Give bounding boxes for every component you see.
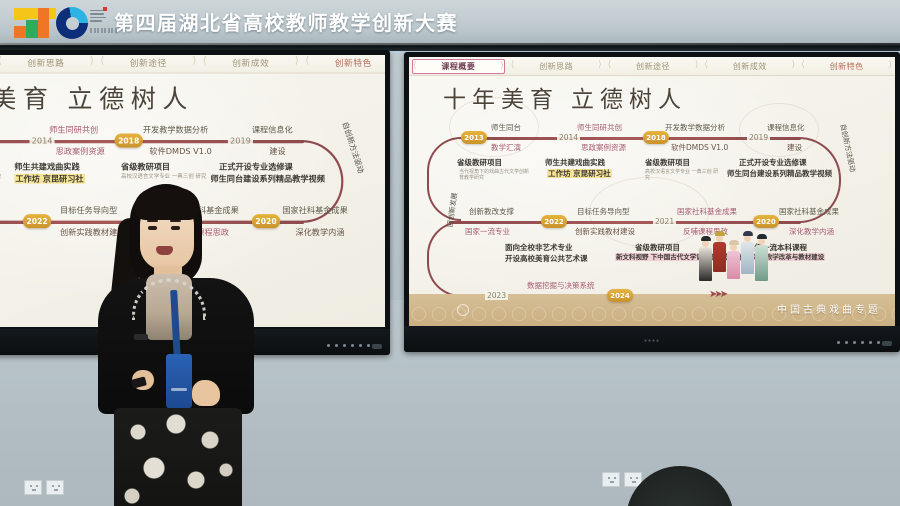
slide-headline-left: 十年美育立德树人 xyxy=(0,78,194,115)
presenter-right-hand xyxy=(192,380,220,406)
projection-screen-right[interactable]: ⟨ 课程概要 ⟩ ⟨ 创新思路 ⟩ ⟨ 创新途径 ⟩ xyxy=(404,52,900,352)
tab-kechenggaiyao[interactable]: ⟨ 课程概要 ⟩ xyxy=(412,59,505,74)
timeline-year-2019: 2019 xyxy=(747,133,770,142)
screen-right-bezel: ●●●● xyxy=(404,326,900,352)
timeline-line-row2 xyxy=(449,221,801,224)
presenter-mic-clip xyxy=(134,334,148,340)
timeline-detail-2021: 省级教研项目 xyxy=(635,243,680,252)
curve-caption-right: 自创新方法驱动 xyxy=(838,123,858,173)
timeline-label-above-2023: 数据挖掘与决策系统 xyxy=(527,281,595,290)
slide-footer-band: 中国古典戏曲专题 xyxy=(409,294,895,328)
bracket-left-icon: ⟨ xyxy=(305,56,309,66)
timeline-year-2023: 2023 xyxy=(485,291,508,300)
seal-icon xyxy=(457,304,469,316)
logo-square-yellow-top xyxy=(14,8,26,20)
bracket-right-icon: ⟩ xyxy=(500,61,504,70)
logo-wordmark-lines xyxy=(90,10,108,24)
opera-figures-illustration xyxy=(699,235,768,281)
bracket-left-icon: ⟨ xyxy=(0,56,2,66)
tab-chuangxintese[interactable]: ⟨ 创新特色 ⟩ xyxy=(801,59,892,74)
timeline-label-below-2014: 思政案例资源 xyxy=(581,143,626,152)
slide-left-tabbar: ⟨ 课程概要 ⟩ ⟨ 创新思路 ⟩ ⟨ 创新途径 ⟩ xyxy=(0,55,385,74)
presenter-eye xyxy=(148,226,157,230)
screen-right-buttons[interactable] xyxy=(837,341,880,344)
timeline-detail-2013: 省级教研项目 xyxy=(457,158,502,167)
timeline-year-2014: 2014 xyxy=(30,136,55,146)
timeline-node-2020: 2020 xyxy=(753,215,779,228)
ir-receiver-icon xyxy=(882,341,892,346)
presenter-skirt xyxy=(114,408,242,506)
bracket-right-icon: ⟩ xyxy=(695,60,699,69)
timeline-year-2021: 2021 xyxy=(653,217,676,226)
timeline-curve-left-bottom xyxy=(427,221,461,297)
timeline-node-2022: 2022 xyxy=(23,214,51,228)
timeline-label-below-2020: 深化教学内涵 xyxy=(789,227,834,236)
slide-footer-caption: 中国古典戏曲专题 xyxy=(777,301,881,316)
timeline-node-2018: 2018 xyxy=(115,133,143,147)
timeline-label-above-2019: 课程信息化 xyxy=(767,123,805,132)
timeline-label-below-2022b: 国家一流专业 xyxy=(465,227,510,236)
logo-bar-orange xyxy=(38,8,49,38)
bracket-right-icon: ⟩ xyxy=(192,56,196,66)
opera-figure xyxy=(713,235,726,272)
opera-figure xyxy=(741,235,754,274)
timeline-detail-2014: 师生共建戏曲实践 xyxy=(545,158,605,167)
timeline-label-above-2018: 开发教学数据分析 xyxy=(665,123,725,132)
tab-chuangxintujing-left[interactable]: ⟨ 创新途径 ⟩ xyxy=(100,55,196,71)
timeline-subdetail-2013: 当代视角下的戏曲古代文学创新育教学研究 xyxy=(459,169,531,181)
header-divider xyxy=(0,43,900,45)
wall-socket xyxy=(46,480,64,495)
logo-subtitle-dots xyxy=(90,28,117,33)
broadcast-header-banner: 第四届湖北省高校教师教学创新大赛 xyxy=(0,0,900,43)
timeline-label-2022-textbook: 创新实践教材建设 xyxy=(575,227,635,236)
timeline-detail-2019: 正式开设专业选修课 xyxy=(739,158,807,167)
timeline-arrow-icon: ➤➤➤ xyxy=(709,289,725,300)
timeline-label-above-2013: 师生同台 xyxy=(491,123,521,132)
wall-socket xyxy=(602,472,620,487)
logo-bar-green xyxy=(26,20,38,38)
timeline-year-2014: 2014 xyxy=(557,133,580,142)
presenter xyxy=(84,182,270,506)
timeline-label-2022-target: 目标任务导向型 xyxy=(577,207,630,216)
slide-right: ⟨ 课程概要 ⟩ ⟨ 创新思路 ⟩ ⟨ 创新途径 ⟩ xyxy=(409,57,895,328)
tab-chuangxinchengxiao-left[interactable]: ⟨ 创新成效 ⟩ xyxy=(203,55,299,71)
timeline-subdetail-2018: 高校汉语言文学专业 一典三创 研究 xyxy=(645,169,721,181)
bracket-left-icon: ⟨ xyxy=(801,60,805,69)
presenter-eye xyxy=(171,226,180,230)
bracket-left-icon: ⟨ xyxy=(608,60,612,69)
bracket-right-icon: ⟩ xyxy=(792,60,796,69)
tab-chuangxinchengxiao[interactable]: ⟨ 创新成效 ⟩ xyxy=(704,59,795,74)
tab-chuangxinsilu-left[interactable]: ⟨ 创新思路 ⟩ xyxy=(0,55,94,71)
timeline-node-2018: 2018 xyxy=(643,131,669,144)
logo-circle-inner xyxy=(66,17,79,30)
opera-figure xyxy=(727,244,740,279)
wall-socket xyxy=(24,480,42,495)
opera-figure xyxy=(755,238,768,281)
presenter-fringe xyxy=(134,188,200,220)
bracket-right-icon: ⟩ xyxy=(598,60,602,69)
timeline-label-above-2022: 创新教改支撑 xyxy=(469,207,514,216)
bracket-right-icon: ⟩ xyxy=(295,56,299,66)
bracket-left-icon: ⟨ xyxy=(100,56,104,66)
timeline-subdetail-2022: 开设高校美育公共艺术课 xyxy=(505,254,588,263)
timeline-detail-2022: 面向全校非艺术专业 xyxy=(505,243,573,252)
bracket-left-icon: ⟨ xyxy=(511,60,515,69)
screen-brand-logo: ●●●● xyxy=(644,338,660,344)
opera-figure xyxy=(699,240,712,281)
presenter-mouth xyxy=(156,246,173,255)
timeline-detail-2018: 省级教研项目 xyxy=(645,158,690,167)
presenter-id-badge xyxy=(166,354,192,408)
timeline-label-above-2021: 国家社科基金成果 xyxy=(677,207,737,216)
timeline-year-2019: 2019 xyxy=(228,136,253,146)
logo-red-dot xyxy=(103,7,107,11)
slide-right-tabbar: ⟨ 课程概要 ⟩ ⟨ 创新思路 ⟩ ⟨ 创新途径 ⟩ xyxy=(409,57,895,76)
timeline-label-below-2013: 教学汇演 xyxy=(491,143,521,152)
timeline-label-above-2014: 师生同研共创 xyxy=(577,123,622,132)
page-title: 第四届湖北省高校教师教学创新大赛 xyxy=(114,7,458,36)
tab-chuangxinsilu[interactable]: ⟨ 创新思路 ⟩ xyxy=(511,59,602,74)
screenshot-stage: ⟨ 课程概要 ⟩ ⟨ 创新思路 ⟩ ⟨ 创新途径 ⟩ xyxy=(0,0,900,506)
bracket-left-icon: ⟨ xyxy=(413,61,417,70)
ir-receiver-icon xyxy=(372,344,382,349)
bracket-left-icon: ⟨ xyxy=(704,60,708,69)
bracket-right-icon: ⟩ xyxy=(888,60,892,69)
screen-right-display: ⟨ 课程概要 ⟩ ⟨ 创新思路 ⟩ ⟨ 创新途径 ⟩ xyxy=(409,57,895,328)
slide-headline: 十年美育立德树人 xyxy=(443,80,687,114)
timeline-label-above-2020: 国家社科基金成果 xyxy=(779,207,839,216)
timeline-node-2024: 2024 xyxy=(607,289,633,302)
timeline-node-2013: 2013 xyxy=(461,131,487,144)
presenter-eyebrow xyxy=(170,220,181,222)
bracket-right-icon: ⟩ xyxy=(90,56,94,66)
screen-left-buttons[interactable] xyxy=(327,344,370,347)
timeline-subdetail-2014: 工作坊 京昆研习社 xyxy=(547,169,612,178)
timeline-node-2022: 2022 xyxy=(541,215,567,228)
timeline-label-below-2018: 软件DMDS V1.0 xyxy=(671,143,728,152)
bracket-left-icon: ⟨ xyxy=(203,56,207,66)
timeline: 2013 2014 2018 2019 师生同台 教学汇演 省级教研项目 当代视… xyxy=(409,113,895,306)
presenter-eyebrow xyxy=(147,220,158,222)
tab-chuangxintujing[interactable]: ⟨ 创新途径 ⟩ xyxy=(608,59,699,74)
logo-square-orange-bottom xyxy=(14,26,26,38)
tic-logo xyxy=(4,2,108,42)
tab-chuangxintese-left[interactable]: ⟨ 创新特色 ⟩ xyxy=(305,55,385,71)
